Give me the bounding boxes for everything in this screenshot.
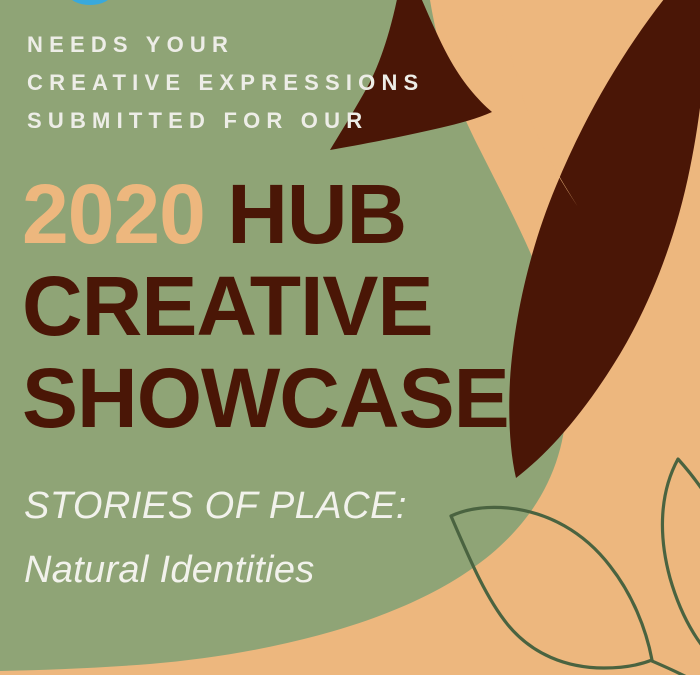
headline-block: 2020 HUB CREATIVE SHOWCASE	[22, 168, 662, 444]
subtitle-block: STORIES OF PLACE: Natural Identities	[24, 482, 584, 594]
subtitle-line-2: Natural Identities	[24, 546, 584, 594]
headline-line-2: CREATIVE	[22, 260, 662, 352]
headline-line-3: SHOWCASE	[22, 352, 662, 444]
subtitle-line-1: STORIES OF PLACE:	[24, 482, 584, 530]
poster-content: NEEDS YOUR CREATIVE EXPRESSIONS SUBMITTE…	[0, 0, 700, 675]
headline-hub: HUB	[227, 167, 406, 261]
headline-year: 2020	[22, 167, 205, 261]
kicker-line-1: NEEDS YOUR	[27, 26, 547, 64]
kicker-line-3: SUBMITTED FOR OUR	[27, 102, 547, 140]
kicker-text-block: NEEDS YOUR CREATIVE EXPRESSIONS SUBMITTE…	[27, 26, 547, 140]
kicker-line-2: CREATIVE EXPRESSIONS	[27, 64, 547, 102]
headline-spacer	[205, 167, 227, 261]
headline-line-1: 2020 HUB	[22, 168, 662, 260]
poster-canvas: NEEDS YOUR CREATIVE EXPRESSIONS SUBMITTE…	[0, 0, 700, 675]
